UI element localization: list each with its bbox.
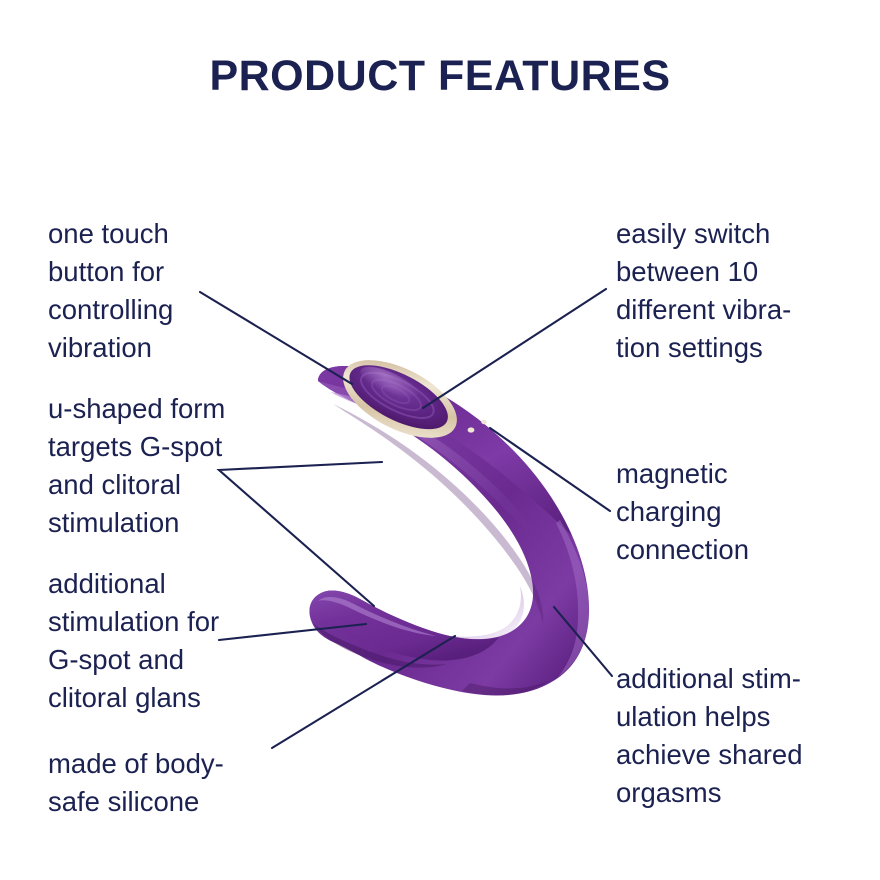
callout-magnetic-charging: magnetic charging connection — [616, 455, 866, 569]
callout-vibration-settings: easily switch between 10 different vibra… — [616, 215, 866, 367]
product-features-infographic: PRODUCT FEATURES — [0, 0, 880, 880]
leader-line-vibration-settings — [423, 289, 606, 408]
leader-line-shared-orgasms — [554, 607, 612, 676]
leader-line-magnetic-charging — [490, 428, 610, 511]
callout-one-touch-button: one touch button for controlling vibrati… — [48, 215, 298, 367]
callout-additional-stimulation: additional stimulation for G-spot and cl… — [48, 565, 313, 717]
callout-body-safe-silicone: made of body- safe silicone — [48, 745, 313, 821]
callout-shared-orgasms: additional stim- ulation helps achieve s… — [616, 660, 876, 812]
callout-u-shaped-form: u-shaped form targets G-spot and clitora… — [48, 390, 313, 542]
